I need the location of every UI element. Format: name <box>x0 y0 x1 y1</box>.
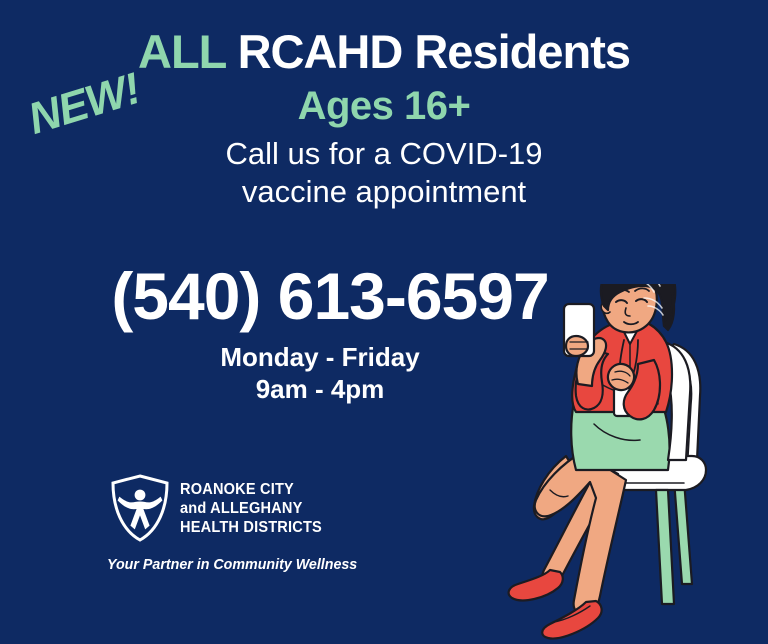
headline-rest: RCAHD Residents <box>226 25 630 78</box>
shield-person-icon <box>110 474 170 542</box>
call-line-2: vaccine appointment <box>0 173 768 211</box>
logo-row: ROANOKE CITY and ALLEGHANY HEALTH DISTRI… <box>110 474 370 542</box>
logo-line-3: HEALTH DISTRICTS <box>180 518 322 537</box>
subheadline-call: Call us for a COVID-19 vaccine appointme… <box>0 135 768 211</box>
logo-block: ROANOKE CITY and ALLEGHANY HEALTH DISTRI… <box>110 474 370 573</box>
hours-line-1: Monday - Friday <box>220 342 419 372</box>
call-line-1: Call us for a COVID-19 <box>226 136 543 171</box>
logo-tagline: Your Partner in Community Wellness <box>107 556 357 573</box>
woman-seated-with-phone-illustration <box>478 284 768 644</box>
subheadline-ages: Ages 16+ <box>0 84 768 129</box>
headline-accent-word: ALL <box>138 25 226 78</box>
logo-text: ROANOKE CITY and ALLEGHANY HEALTH DISTRI… <box>180 480 322 537</box>
logo-line-1: ROANOKE CITY <box>180 480 322 499</box>
logo-line-2: and ALLEGHANY <box>180 499 322 518</box>
poster-canvas: NEW! ALL RCAHD Residents Ages 16+ Call u… <box>0 0 768 644</box>
page-title: ALL RCAHD Residents <box>0 24 768 79</box>
